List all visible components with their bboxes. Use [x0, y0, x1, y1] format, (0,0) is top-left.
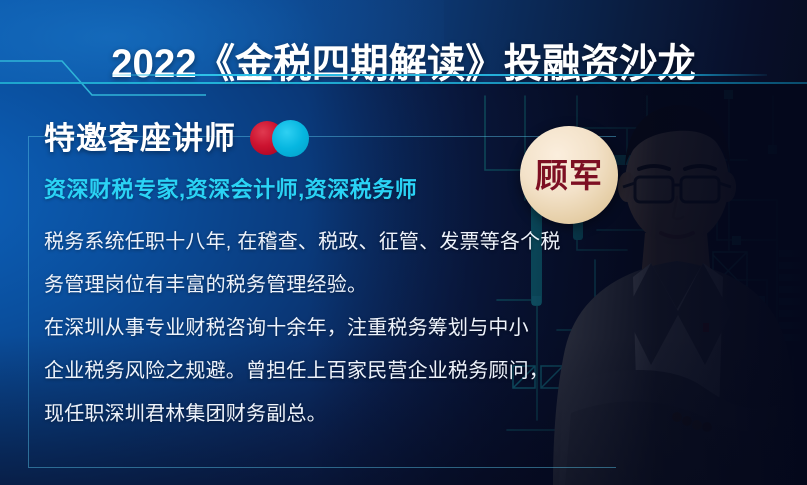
cyan-circle-icon: [272, 120, 309, 157]
bio-line: 税务系统任职十八年, 在稽查、税政、征管、发票等各个税: [44, 221, 584, 264]
bio-line: 现任职深圳君林集团财务副总。: [44, 393, 584, 436]
speaker-credentials: 资深财税专家,资深会计师,资深税务师: [44, 177, 584, 203]
bio-line: 企业税务风险之规避。曾担任上百家民营企业税务顾问，: [44, 350, 584, 393]
speaker-info-block: 特邀客座讲师 资深财税专家,资深会计师,资深税务师 税务系统任职十八年, 在稽查…: [44, 116, 584, 436]
speaker-heading-row: 特邀客座讲师: [44, 116, 584, 160]
seminar-banner: 2022《金税四期解读》投融资沙龙 特邀客座讲师 资深财税专家,资深会计师,资深…: [0, 0, 807, 485]
title-underline-long: [0, 82, 807, 84]
speaker-name-badge: 顾军: [520, 126, 618, 224]
bio-line: 在深圳从事专业财税咨询十余年，注重税务筹划与中小: [44, 307, 584, 350]
speaker-name: 顾军: [535, 159, 603, 192]
title-underline-short: [112, 74, 767, 76]
page-title: 2022《金税四期解读》投融资沙龙: [16, 41, 791, 87]
speaker-bio: 税务系统任职十八年, 在稽查、税政、征管、发票等各个税 务管理岗位有丰富的税务管…: [44, 221, 584, 436]
decorative-dots: [250, 120, 322, 156]
speaker-heading: 特邀客座讲师: [44, 123, 236, 154]
bio-line: 务管理岗位有丰富的税务管理经验。: [44, 264, 584, 307]
